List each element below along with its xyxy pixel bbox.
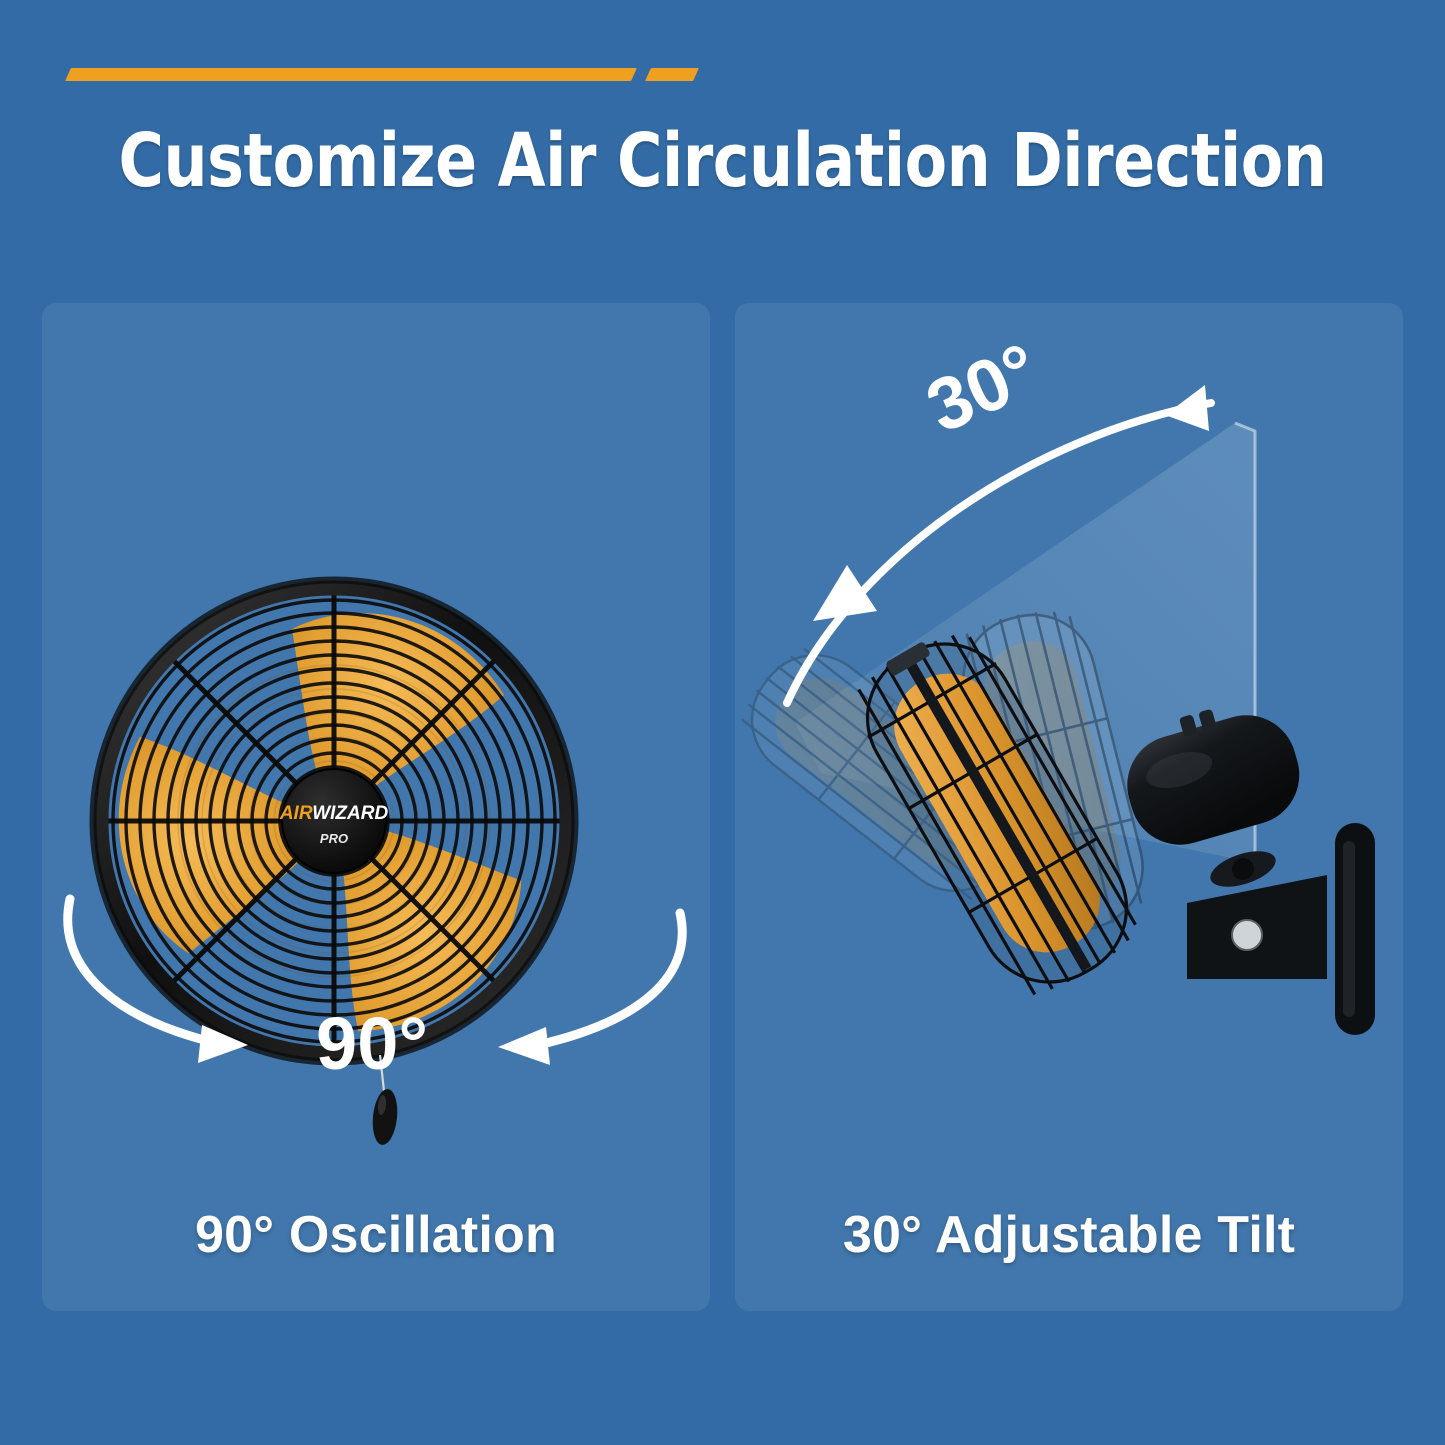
angle-label-30: 30° (915, 327, 1051, 448)
panel-row: AIRWIZARD PRO (42, 303, 1403, 1311)
tilt-illustration: 30° (735, 303, 1403, 1311)
accent-bar-dash (645, 68, 699, 81)
panel-oscillation[interactable]: AIRWIZARD PRO (42, 303, 710, 1311)
wall-mount-bracket (1187, 823, 1375, 1035)
caption-tilt: 30° Adjustable Tilt (735, 1205, 1403, 1265)
caption-oscillation: 90° Oscillation (42, 1205, 710, 1265)
oscillation-arrow-right (538, 913, 682, 1045)
accent-bar-group (68, 66, 708, 84)
page-title: Customize Air Circulation Direction (51, 118, 1395, 204)
oscillation-illustration: AIRWIZARD PRO (42, 303, 710, 1311)
svg-text:PRO: PRO (320, 831, 348, 846)
svg-text:AIRWIZARD: AIRWIZARD (279, 803, 389, 824)
panel-tilt[interactable]: 30° 30° Adjustable Tilt (735, 303, 1403, 1311)
arrowhead-right (498, 1027, 550, 1065)
accent-bar-long (65, 68, 637, 81)
angle-label-90: 90° (316, 1002, 428, 1085)
arrowhead-arc-start (813, 565, 877, 621)
